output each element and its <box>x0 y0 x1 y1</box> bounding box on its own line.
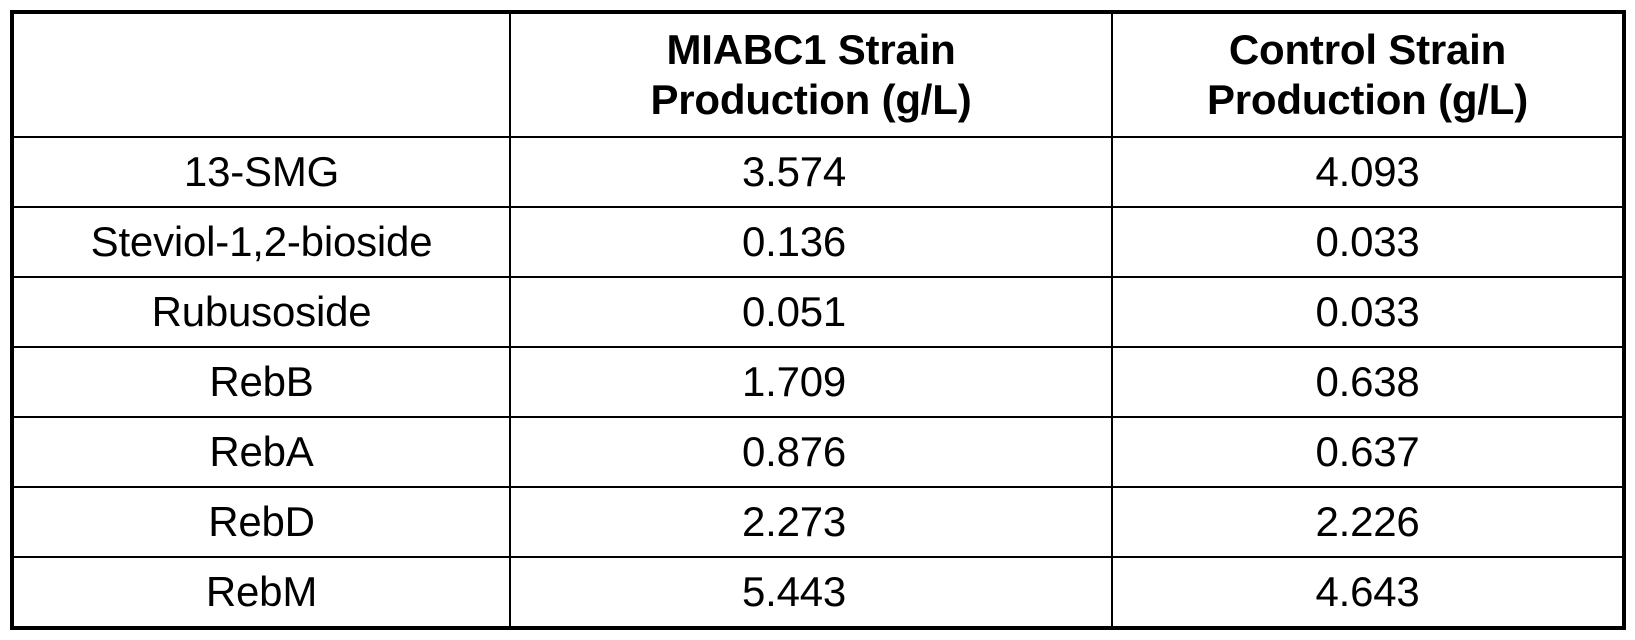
header-miabc1-line2: Production (g/L) <box>511 75 1111 125</box>
table-row: Steviol-1,2-bioside 0.136 0.033 <box>12 207 1624 277</box>
header-miabc1-line1: MIABC1 Strain <box>511 25 1111 75</box>
table-body: 13-SMG 3.574 4.093 Steviol-1,2-bioside 0… <box>12 137 1624 628</box>
control-value: 4.643 <box>1112 557 1624 628</box>
analyte-name: RebD <box>12 487 510 557</box>
miabc1-value: 5.443 <box>510 557 1112 628</box>
miabc1-value: 1.709 <box>510 347 1112 417</box>
header-miabc1-production: MIABC1 Strain Production (g/L) <box>510 12 1112 137</box>
control-value: 0.033 <box>1112 277 1624 347</box>
control-value: 0.638 <box>1112 347 1624 417</box>
analyte-name: RebB <box>12 347 510 417</box>
miabc1-value: 0.136 <box>510 207 1112 277</box>
header-control-production: Control Strain Production (g/L) <box>1112 12 1624 137</box>
control-value: 4.093 <box>1112 137 1624 207</box>
control-value: 0.033 <box>1112 207 1624 277</box>
control-value: 2.226 <box>1112 487 1624 557</box>
miabc1-value: 0.051 <box>510 277 1112 347</box>
analyte-name: RebM <box>12 557 510 628</box>
table-row: RebM 5.443 4.643 <box>12 557 1624 628</box>
table-row: RebB 1.709 0.638 <box>12 347 1624 417</box>
header-corner-empty <box>12 12 510 137</box>
table-row: RebD 2.273 2.226 <box>12 487 1624 557</box>
miabc1-value: 3.574 <box>510 137 1112 207</box>
analyte-name: Rubusoside <box>12 277 510 347</box>
header-control-line1: Control Strain <box>1113 25 1622 75</box>
table-row: 13-SMG 3.574 4.093 <box>12 137 1624 207</box>
table-row: Rubusoside 0.051 0.033 <box>12 277 1624 347</box>
production-table: MIABC1 Strain Production (g/L) Control S… <box>10 10 1626 630</box>
miabc1-value: 0.876 <box>510 417 1112 487</box>
header-control-line2: Production (g/L) <box>1113 75 1622 125</box>
analyte-name: 13-SMG <box>12 137 510 207</box>
table-row: RebA 0.876 0.637 <box>12 417 1624 487</box>
control-value: 0.637 <box>1112 417 1624 487</box>
analyte-name: Steviol-1,2-bioside <box>12 207 510 277</box>
miabc1-value: 2.273 <box>510 487 1112 557</box>
analyte-name: RebA <box>12 417 510 487</box>
production-table-container: MIABC1 Strain Production (g/L) Control S… <box>10 10 1622 626</box>
table-header: MIABC1 Strain Production (g/L) Control S… <box>12 12 1624 137</box>
header-row: MIABC1 Strain Production (g/L) Control S… <box>12 12 1624 137</box>
